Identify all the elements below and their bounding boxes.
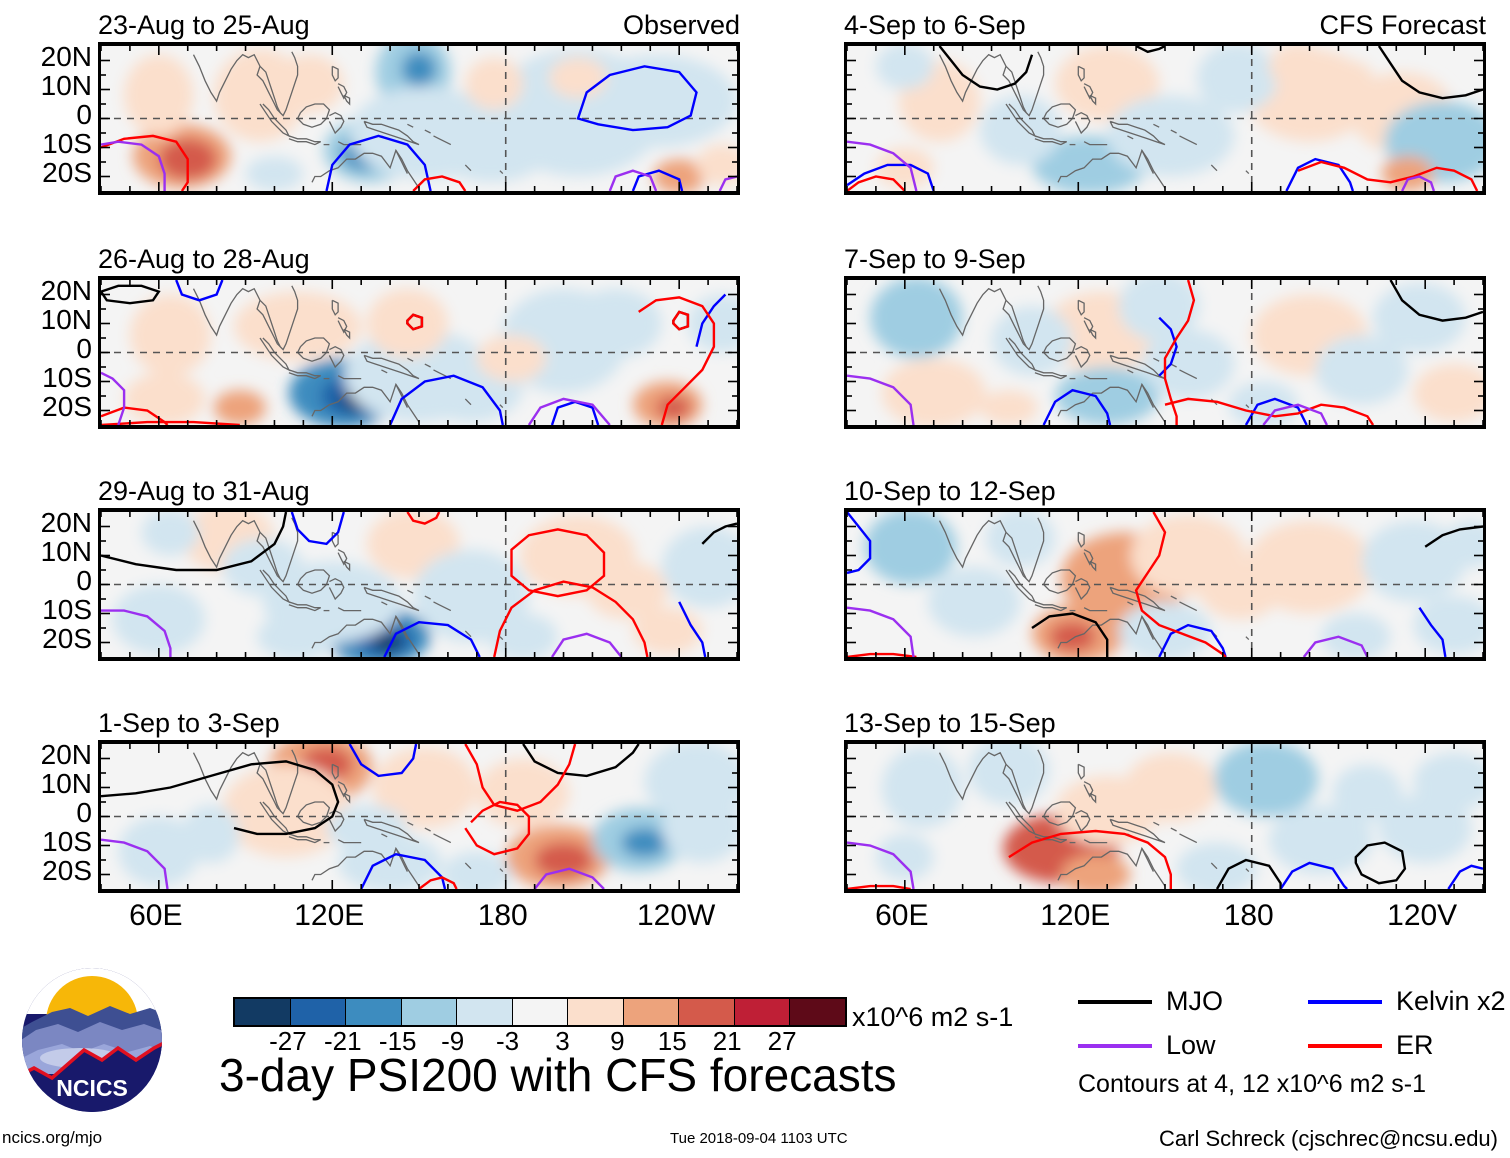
y-axis-labels: 20N10N010S20S xyxy=(2,42,92,187)
contour-legend: MJOKelvin x2LowER xyxy=(1078,988,1498,1068)
colorbar-swatch-1 xyxy=(291,999,347,1025)
map-canvas[interactable] xyxy=(844,42,1486,195)
y-tick-label: 10S xyxy=(42,596,92,624)
x-tick-label: 60E xyxy=(129,901,182,931)
y-tick-label: 10S xyxy=(42,828,92,856)
x-tick-label: 120V xyxy=(1387,901,1457,931)
colorbar-swatch-7 xyxy=(624,999,680,1025)
logo-url-label: ncics.org/mjo xyxy=(2,1128,102,1148)
colorbar-swatch-10 xyxy=(790,999,845,1025)
x-tick-label: 120E xyxy=(1040,901,1110,931)
colorbar-swatch-2 xyxy=(346,999,402,1025)
map-panel: 13-Sep to 15-Sep60E120E180120V xyxy=(844,740,1486,893)
x-tick-label: 180 xyxy=(478,901,528,931)
legend-entry-er: ER xyxy=(1308,1032,1434,1059)
colorbar-swatch-8 xyxy=(679,999,735,1025)
y-tick-label: 10N xyxy=(41,306,92,334)
y-tick-label: 20N xyxy=(41,741,92,769)
colorbar-swatch-5 xyxy=(513,999,569,1025)
legend-label: ER xyxy=(1396,1032,1434,1059)
map-canvas[interactable] xyxy=(844,276,1486,429)
y-axis-labels: 20N10N010S20S xyxy=(2,508,92,653)
legend-line-swatch xyxy=(1308,1044,1382,1048)
author-credit: Carl Schreck (cjschrec@ncsu.edu) xyxy=(1159,1126,1498,1152)
y-tick-label: 0 xyxy=(76,799,92,827)
y-axis-labels: 20N10N010S20S xyxy=(2,740,92,885)
map-canvas[interactable] xyxy=(98,276,740,429)
panel-title: 4-Sep to 6-Sep xyxy=(844,10,1026,40)
x-axis-labels: 60E120E180120W xyxy=(98,901,734,935)
colorbar-swatch-6 xyxy=(568,999,624,1025)
map-panel: 4-Sep to 6-SepCFS Forecast xyxy=(844,42,1486,195)
panel-title: 23-Aug to 25-Aug xyxy=(98,10,310,40)
panel-title: 26-Aug to 28-Aug xyxy=(98,244,310,274)
map-panel: 26-Aug to 28-Aug20N10N010S20S xyxy=(98,276,740,429)
panel-title: 13-Sep to 15-Sep xyxy=(844,708,1056,738)
map-panel: 10-Sep to 12-Sep xyxy=(844,508,1486,661)
panel-title: 7-Sep to 9-Sep xyxy=(844,244,1026,274)
x-tick-label: 120W xyxy=(637,901,715,931)
legend-line-swatch xyxy=(1308,1000,1382,1004)
y-tick-label: 20S xyxy=(42,857,92,885)
legend-entry-mjo: MJO xyxy=(1078,988,1223,1015)
legend-label: Kelvin x2 xyxy=(1396,988,1506,1015)
legend-line-swatch xyxy=(1078,1044,1152,1048)
map-panel: 7-Sep to 9-Sep xyxy=(844,276,1486,429)
map-canvas[interactable] xyxy=(844,508,1486,661)
colorbar xyxy=(233,997,847,1027)
logo-wordmark: NCICS xyxy=(56,1075,128,1101)
panel-title: 29-Aug to 31-Aug xyxy=(98,476,310,506)
map-canvas[interactable] xyxy=(98,740,740,893)
column-header: Observed xyxy=(623,10,740,40)
legend-line-swatch xyxy=(1078,1000,1152,1004)
map-canvas[interactable] xyxy=(98,42,740,195)
y-tick-label: 10N xyxy=(41,72,92,100)
panel-title: 1-Sep to 3-Sep xyxy=(98,708,280,738)
y-axis-labels: 20N10N010S20S xyxy=(2,276,92,421)
x-axis-labels: 60E120E180120V xyxy=(844,901,1480,935)
y-tick-label: 0 xyxy=(76,101,92,129)
colorbar-swatch-4 xyxy=(457,999,513,1025)
map-canvas[interactable] xyxy=(844,740,1486,893)
panel-title: 10-Sep to 12-Sep xyxy=(844,476,1056,506)
y-tick-label: 20S xyxy=(42,625,92,653)
ncics-logo: NCICS xyxy=(18,968,166,1120)
legend-label: MJO xyxy=(1166,988,1223,1015)
y-tick-label: 20S xyxy=(42,159,92,187)
contour-legend-note: Contours at 4, 12 x10^6 m2 s-1 xyxy=(1078,1070,1426,1099)
map-panel: 29-Aug to 31-Aug20N10N010S20S xyxy=(98,508,740,661)
generation-timestamp: Tue 2018-09-04 1103 UTC xyxy=(670,1130,848,1147)
colorbar-swatch-9 xyxy=(735,999,791,1025)
legend-label: Low xyxy=(1166,1032,1216,1059)
y-tick-label: 10S xyxy=(42,364,92,392)
x-tick-label: 180 xyxy=(1224,901,1274,931)
y-tick-label: 10S xyxy=(42,130,92,158)
y-tick-label: 20N xyxy=(41,277,92,305)
y-tick-label: 20S xyxy=(42,393,92,421)
y-tick-label: 20N xyxy=(41,509,92,537)
map-panel: 23-Aug to 25-AugObserved20N10N010S20S xyxy=(98,42,740,195)
map-canvas[interactable] xyxy=(98,508,740,661)
y-tick-label: 0 xyxy=(76,335,92,363)
y-tick-label: 10N xyxy=(41,538,92,566)
legend-entry-kelvin-x2: Kelvin x2 xyxy=(1308,988,1506,1015)
column-header: CFS Forecast xyxy=(1319,10,1486,40)
colorbar-units-label: x10^6 m2 s-1 xyxy=(852,1002,1013,1033)
y-tick-label: 0 xyxy=(76,567,92,595)
colorbar-swatch-0 xyxy=(235,999,291,1025)
map-panel: 1-Sep to 3-Sep20N10N010S20S60E120E180120… xyxy=(98,740,740,893)
x-tick-label: 120E xyxy=(294,901,364,931)
colorbar-swatch-3 xyxy=(402,999,458,1025)
legend-entry-low: Low xyxy=(1078,1032,1216,1059)
y-tick-label: 20N xyxy=(41,43,92,71)
x-tick-label: 60E xyxy=(875,901,928,931)
figure-title: 3-day PSI200 with CFS forecasts xyxy=(219,1052,897,1098)
y-tick-label: 10N xyxy=(41,770,92,798)
